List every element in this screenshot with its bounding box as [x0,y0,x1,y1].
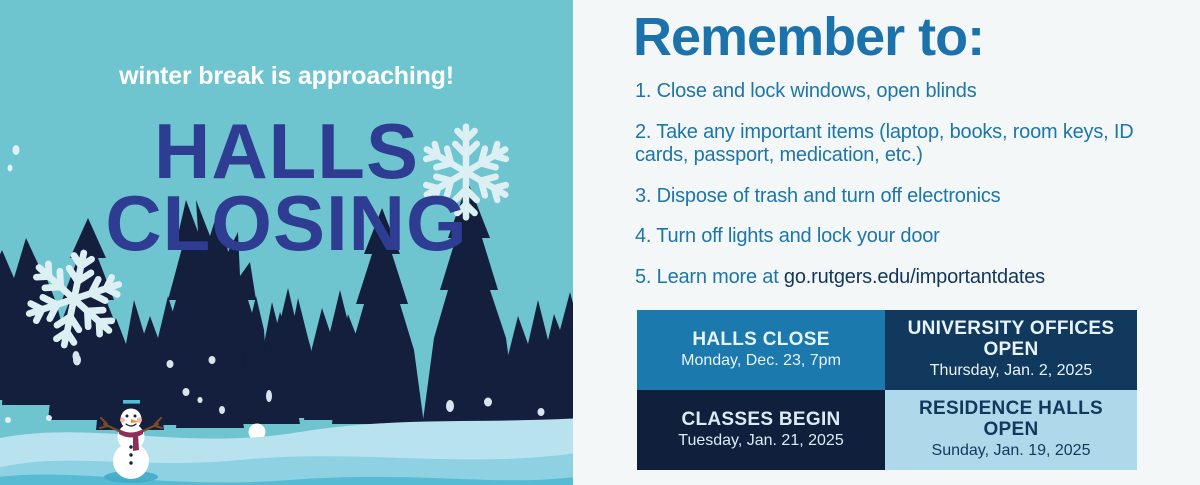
date-card-date: Monday, Dec. 23, 7pm [681,352,841,370]
date-card-title: RESIDENCE HALLS OPEN [891,399,1131,440]
date-card-classes-begin: CLASSES BEGIN Tuesday, Jan. 21, 2025 [637,390,885,470]
important-dates-link[interactable]: go.rutgers.edu/importantdates [784,266,1045,288]
list-item-text: Close and lock windows, open blinds [657,80,977,102]
list-item-text: Learn more at [657,266,784,288]
left-illustration-panel: winter break is approaching! HALLS CLOSI… [0,0,573,485]
tagline-text: winter break is approaching! [0,62,573,91]
list-item-number: 2. [635,121,651,143]
list-item-number: 5. [635,266,651,288]
page-title: Remember to: [633,8,984,67]
key-dates-grid: HALLS CLOSE Monday, Dec. 23, 7pm UNIVERS… [637,310,1137,470]
date-card-title: HALLS CLOSE [692,330,829,351]
halls-closing-graphic: winter break is approaching! HALLS CLOSI… [0,0,1200,485]
list-item-number: 4. [635,225,651,247]
list-item-text: Take any important items (laptop, books,… [635,121,1133,167]
date-card-date: Sunday, Jan. 19, 2025 [932,442,1091,460]
list-item-number: 1. [635,80,651,102]
list-item: 5. Learn more at go.rutgers.edu/importan… [635,266,1155,290]
list-item-text: Turn off lights and lock your door [656,225,939,247]
list-item: 1. Close and lock windows, open blinds [635,80,1155,104]
list-item: 4. Turn off lights and lock your door [635,225,1155,249]
instructions-panel: Remember to: 1. Close and lock windows, … [573,0,1200,485]
date-card-title: CLASSES BEGIN [681,410,840,431]
date-card-halls-close: HALLS CLOSE Monday, Dec. 23, 7pm [637,310,885,390]
title-line-closing: CLOSING [0,184,573,262]
list-item-number: 3. [635,185,651,207]
date-card-date: Tuesday, Jan. 21, 2025 [678,432,843,450]
list-item: 2. Take any important items (laptop, boo… [635,121,1155,168]
list-item: 3. Dispose of trash and turn off electro… [635,185,1155,209]
date-card-residence-halls-open: RESIDENCE HALLS OPEN Sunday, Jan. 19, 20… [885,390,1137,470]
date-card-title: UNIVERSITY OFFICES OPEN [891,319,1131,360]
date-card-university-offices-open: UNIVERSITY OFFICES OPEN Thursday, Jan. 2… [885,310,1137,390]
checklist: 1. Close and lock windows, open blinds 2… [635,80,1155,307]
list-item-text: Dispose of trash and turn off electronic… [657,185,1001,207]
date-card-date: Thursday, Jan. 2, 2025 [930,362,1092,380]
